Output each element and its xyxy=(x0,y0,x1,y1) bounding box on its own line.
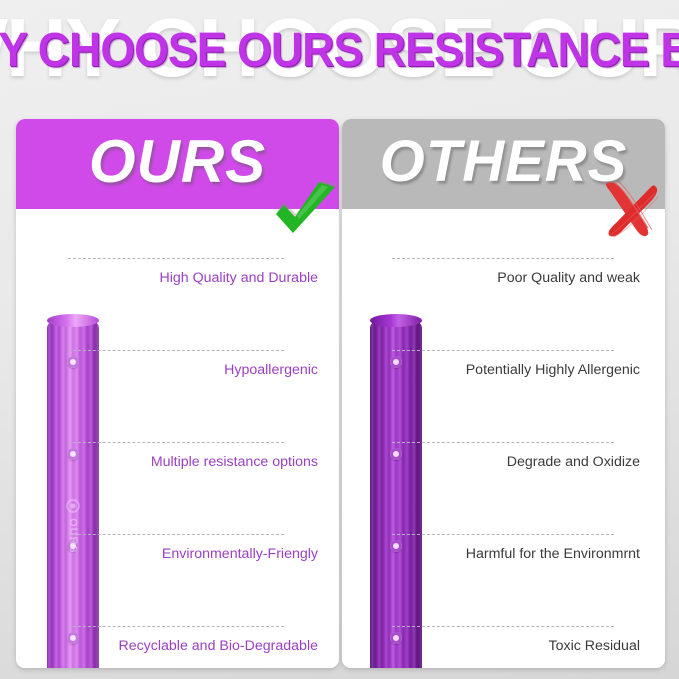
feature-label: Potentially Highly Allergenic xyxy=(350,362,650,380)
connector-line xyxy=(392,258,614,259)
feature-row: High Quality and Durable xyxy=(16,258,339,350)
feature-label: Hypoallergenic xyxy=(24,362,324,380)
connector-line xyxy=(392,626,614,627)
connector-line xyxy=(68,534,284,535)
feature-row: Recyclable and Bio-Degradable xyxy=(16,626,339,668)
panel-header-label-ours: OURS xyxy=(89,132,266,192)
comparison-panel-others: OTHERS Poor Quality and weak Potentially… xyxy=(342,119,665,668)
feature-label: Degrade and Oxidize xyxy=(350,454,650,472)
panel-body-ours: OURS High Quality and Durable Hypoallerg… xyxy=(16,209,339,668)
feature-label: Toxic Residual xyxy=(350,638,650,656)
connector-line xyxy=(68,350,284,351)
connector-line xyxy=(68,626,284,627)
connector-line xyxy=(392,534,614,535)
feature-row: Poor Quality and weak xyxy=(342,258,665,350)
connector-line xyxy=(68,258,284,259)
feature-label: Poor Quality and weak xyxy=(350,270,650,288)
connector-line xyxy=(68,442,284,443)
feature-row: Hypoallergenic xyxy=(16,350,339,442)
page-title: WHY CHOOSE OURS RESISTANCE BAR xyxy=(0,27,679,75)
feature-row: Harmful for the Environmrnt xyxy=(342,534,665,626)
feature-label: High Quality and Durable xyxy=(24,270,324,288)
feature-label: Recyclable and Bio-Degradable xyxy=(24,638,324,656)
panel-body-others: Poor Quality and weak Potentially Highly… xyxy=(342,209,665,668)
panel-header-others: OTHERS xyxy=(342,119,665,209)
feature-row: Toxic Residual xyxy=(342,626,665,668)
panel-header-label-others: OTHERS xyxy=(380,133,628,191)
panel-header-ours: OURS xyxy=(16,119,339,209)
feature-row: Environmentally-Friengly xyxy=(16,534,339,626)
feature-label: Multiple resistance options xyxy=(24,454,324,472)
feature-label: Environmentally-Friengly xyxy=(24,546,324,564)
connector-line xyxy=(392,442,614,443)
page-header: WHY CHOOSE OURS WHY CHOOSE OURS RESISTAN… xyxy=(0,0,679,108)
feature-row: Degrade and Oxidize xyxy=(342,442,665,534)
feature-row: Multiple resistance options xyxy=(16,442,339,534)
feature-row: Potentially Highly Allergenic xyxy=(342,350,665,442)
connector-line xyxy=(392,350,614,351)
comparison-panel-ours: OURS OURS xyxy=(16,119,339,668)
feature-label: Harmful for the Environmrnt xyxy=(350,546,650,564)
